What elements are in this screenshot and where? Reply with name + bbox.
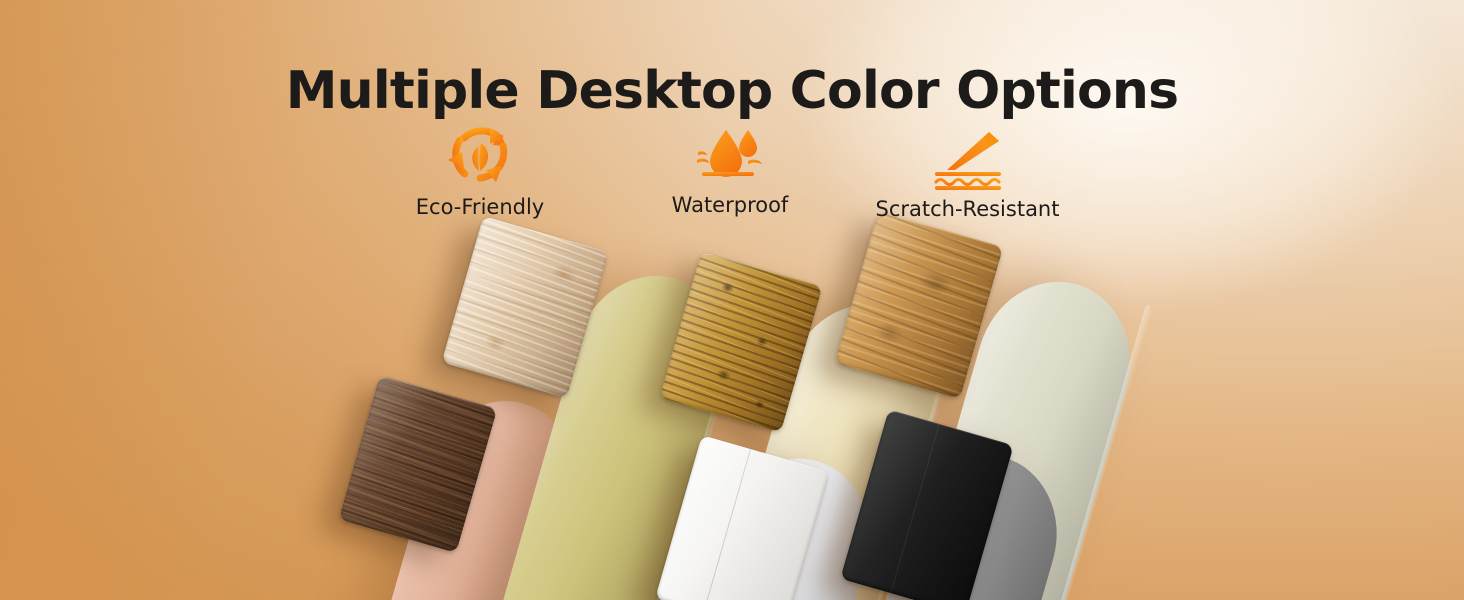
promo-banner: Multiple Desktop Color Options (0, 0, 1464, 600)
recycle-leaf-icon (360, 126, 600, 188)
feature-label: Waterproof (620, 192, 840, 218)
feature-waterproof: Waterproof (620, 124, 840, 218)
feature-label: Eco-Friendly (360, 194, 600, 220)
feature-scratch-resistant: Scratch-Resistant (835, 128, 1100, 222)
feature-label: Scratch-Resistant (835, 196, 1100, 222)
page-title: Multiple Desktop Color Options (0, 60, 1464, 122)
feature-eco-friendly: Eco-Friendly (360, 126, 600, 220)
water-droplet-icon (620, 124, 840, 186)
banner-header: Multiple Desktop Color Options (0, 0, 1464, 240)
feature-list: Eco-Friendly (380, 124, 1080, 234)
blade-surface-icon (835, 128, 1100, 190)
